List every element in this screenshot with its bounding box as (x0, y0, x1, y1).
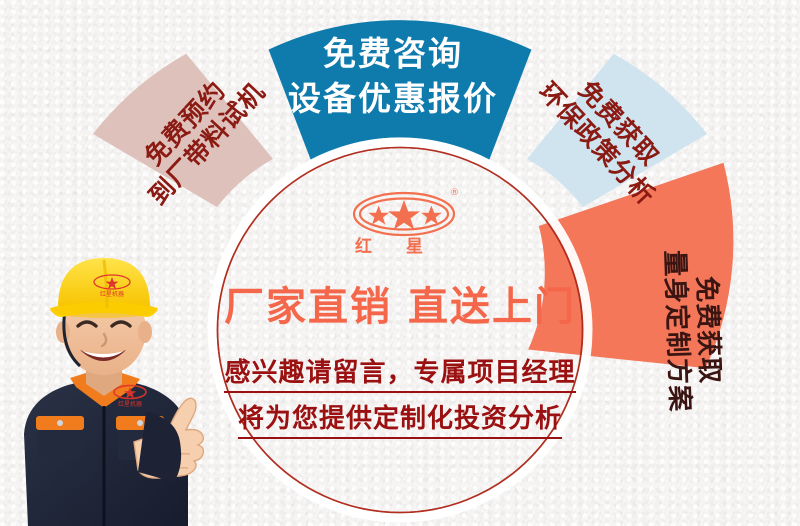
logo-wordmark: 红星 (355, 236, 457, 257)
subline-1: 感兴趣请留言，专属项目经理 (170, 352, 630, 389)
logo-stars (368, 200, 441, 230)
subline-2: 将为您提供定制化投资分析 (170, 398, 630, 435)
arc-segment-4-label: 免费获取 量身定制方案 (658, 220, 727, 442)
smiling-worker-thumbs-up: 红星机器 红星机器 (0, 234, 215, 526)
arc-segment-2-label: 免费咨询 设备优惠报价 (268, 32, 518, 121)
hongxing-logo: ® 红星 (344, 186, 468, 260)
headline: 厂家直销 直送上门 (170, 274, 630, 332)
banner-canvas: 免费预约 到厂带料试机 免费咨询 设备优惠报价 免费获取 环保政策分析 免费获取… (0, 0, 800, 526)
subline-2-text: 将为您提供定制化投资分析 (238, 404, 562, 439)
svg-text:红星机器: 红星机器 (118, 400, 142, 408)
arc-segment-2-line2: 设备优惠报价 (268, 77, 518, 122)
registered-mark-icon: ® (450, 188, 459, 198)
subline-1-text: 感兴趣请留言，专属项目经理 (224, 358, 575, 393)
worker-helmet-badge-text: 红星机器 (100, 290, 124, 298)
arc-segment-2-line1: 免费咨询 (268, 32, 518, 77)
